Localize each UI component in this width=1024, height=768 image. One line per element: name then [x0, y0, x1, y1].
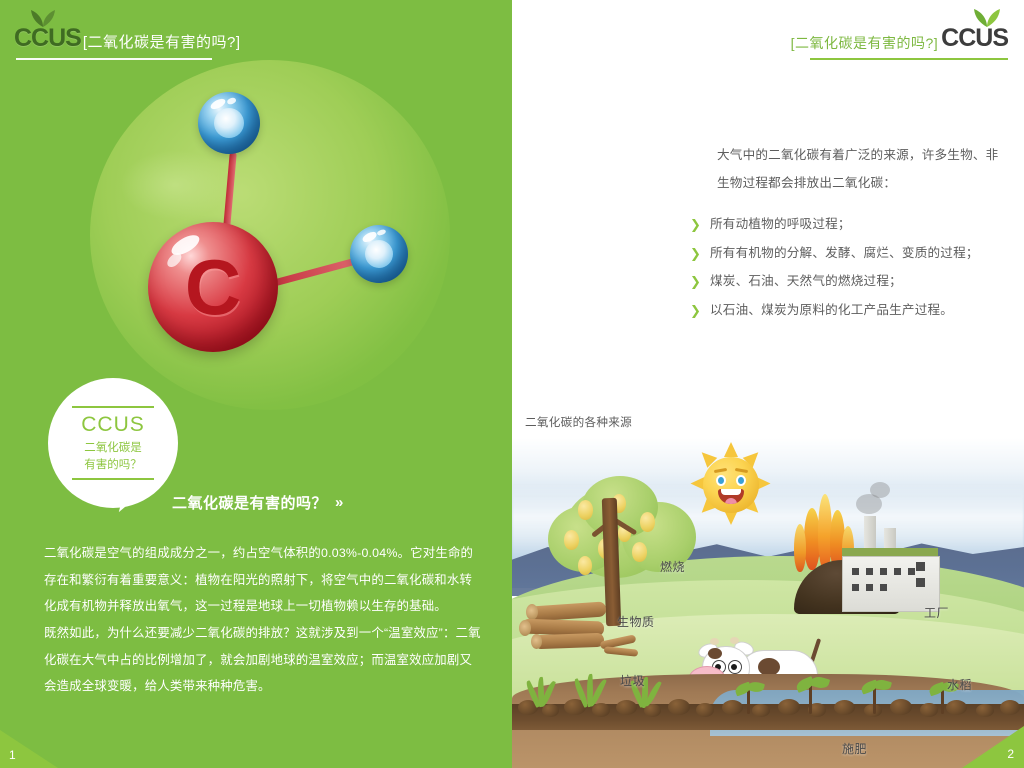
left-section-title-text: 二氧化碳是有害的吗？: [172, 492, 327, 513]
oxygen-right-inner-ring: [365, 240, 393, 268]
page-number-left: 1: [0, 730, 58, 768]
soil-lump: [668, 699, 690, 715]
sun-ray: [724, 442, 738, 457]
left-paragraph-1: 二氧化碳是空气的组成成分之一，约占空气体积的0.03%-0.04%。它对生命的存…: [44, 540, 484, 620]
factory-window: [916, 562, 925, 571]
soil-lump: [696, 703, 714, 717]
chevron-right-icon: ❯: [690, 216, 710, 234]
tree-fruit: [632, 542, 647, 562]
factory-window: [880, 568, 887, 575]
oxygen-right-highlight-2: [377, 229, 387, 237]
cow-pupil-right: [731, 664, 737, 670]
bubble-text: 二氧化碳是 有害的吗？: [84, 440, 142, 473]
list-item: ❯ 煤炭、石油、天然气的燃烧过程；: [690, 273, 1020, 291]
soil-lump: [976, 704, 994, 717]
leaf-sprout-icon: [971, 8, 1003, 27]
header-left: CCUS [二氧化碳是有害的吗?]: [14, 26, 241, 51]
soil-lump: [920, 703, 938, 717]
carbon-atom-label: C: [148, 222, 278, 352]
log-end: [519, 620, 531, 636]
log-end: [531, 634, 542, 649]
log-pile-item: [534, 633, 604, 649]
sun-face: [703, 457, 759, 513]
soil-lump: [592, 703, 610, 717]
bubble-rule-bottom: [72, 478, 154, 480]
list-item-label: 以石油、煤炭为原料的化工产品生产过程。: [710, 302, 953, 319]
ccus-logo-left-text: CCUS: [14, 24, 81, 52]
sun-pupil-left: [718, 477, 724, 484]
tree-fruit: [578, 556, 592, 575]
tree-fruit: [578, 500, 593, 520]
log-end: [526, 604, 538, 620]
leaf-sprout-icon: [28, 9, 58, 27]
co2-molecule-illustration: C: [100, 80, 430, 400]
soil-lump: [752, 704, 770, 717]
tree-fruit: [564, 530, 579, 550]
label-rice: 水稻: [947, 676, 972, 693]
oxygen-top-highlight-2: [226, 96, 237, 104]
factory-window: [866, 584, 873, 591]
sun-mouth: [718, 489, 744, 504]
oxygen-atom-top: [198, 92, 260, 154]
smoke-puff: [870, 482, 890, 498]
factory-window: [916, 578, 925, 587]
page-number-right-text: 2: [1007, 747, 1014, 761]
oxygen-atom-right: [350, 225, 408, 283]
sun-icon: [694, 448, 768, 522]
carbon-sources-illustration: 燃烧 生物质 垃圾 工厂 水稻 施肥: [512, 438, 1024, 768]
sun-brow-right: [735, 468, 748, 473]
factory-window: [880, 584, 887, 591]
bubble-text-line1: 二氧化碳是: [84, 440, 142, 457]
label-factory: 工厂: [924, 604, 949, 621]
ccus-logo-right-text: CCUS: [941, 24, 1008, 52]
carbon-atom: C: [148, 222, 278, 352]
cow-horn-left: [710, 638, 719, 645]
flame: [794, 524, 806, 572]
rice-stem: [809, 684, 812, 714]
factory-window: [852, 568, 859, 575]
page-number-right-shape: [962, 726, 1024, 768]
soil-lump: [542, 704, 559, 717]
soil-lump: [778, 699, 800, 715]
page-number-left-text: 1: [9, 748, 16, 762]
sun-brow-left: [714, 468, 727, 473]
left-section-title: 二氧化碳是有害的吗？ »: [172, 492, 340, 513]
oxygen-top-inner-ring: [214, 108, 244, 138]
label-biomass: 生物质: [617, 613, 655, 630]
soil-lump: [890, 699, 912, 715]
illustration-caption: 二氧化碳的各种来源: [525, 414, 632, 430]
tree-fruit: [640, 512, 655, 532]
factory-window: [866, 568, 873, 575]
factory-window: [908, 568, 915, 575]
bubble-rule-top: [72, 406, 154, 408]
right-intro-text: 大气中的二氧化碳有着广泛的来源，许多生物、非生物过程都会排放出二氧化碳：: [717, 142, 1007, 197]
chevron-right-icon: ❯: [690, 302, 710, 320]
list-item-label: 所有有机物的分解、发酵、腐烂、变质的过程；: [710, 245, 979, 262]
brochure-spread: CCUS [二氧化碳是有害的吗?] C: [0, 0, 1024, 768]
header-right-title: [二氧化碳是有害的吗?]: [791, 36, 939, 51]
chevron-right-icon: ❯: [690, 245, 710, 263]
left-body-text: 二氧化碳是空气的组成成分之一，约占空气体积的0.03%-0.04%。它对生命的存…: [44, 540, 484, 700]
factory-window: [894, 568, 901, 575]
bubble-logo: CCUS: [81, 413, 145, 437]
ccus-logo-right: CCUS: [941, 26, 1008, 51]
soil-lump: [834, 700, 855, 715]
list-item: ❯ 以石油、煤炭为原料的化工产品生产过程。: [690, 302, 1020, 320]
cow-spot-head: [708, 648, 722, 659]
header-right-underline: [810, 58, 1008, 60]
label-burning: 燃烧: [660, 558, 685, 575]
sun-pupil-right: [738, 477, 744, 484]
soil-lump: [722, 700, 743, 715]
list-item-label: 煤炭、石油、天然气的燃烧过程；: [710, 273, 902, 290]
soil-lump: [946, 700, 967, 715]
soil-lump: [1000, 700, 1020, 715]
emission-sources-list: ❯ 所有动植物的呼吸过程； ❯ 所有有机物的分解、发酵、腐烂、变质的过程； ❯ …: [690, 216, 1020, 330]
header-left-underline: [16, 58, 212, 60]
sun-tongue: [725, 498, 737, 504]
list-item-label: 所有动植物的呼吸过程；: [710, 216, 851, 233]
factory-window: [852, 584, 859, 591]
soil-lump: [616, 700, 637, 715]
left-paragraph-2: 既然如此，为什么还要减少二氧化碳的排放？这就涉及到一个“温室效应”：二氧化碳在大…: [44, 620, 484, 700]
page-number-right: 2: [962, 726, 1024, 768]
ccus-logo-left: CCUS: [14, 26, 81, 51]
label-fertilizing: 施肥: [842, 740, 867, 757]
cow-horn-right: [730, 637, 739, 644]
chevron-right-icon: ❯: [690, 273, 710, 291]
header-left-title: [二氧化碳是有害的吗?]: [83, 35, 241, 52]
speech-bubble: CCUS 二氧化碳是 有害的吗？: [48, 378, 178, 508]
list-item: ❯ 所有有机物的分解、发酵、腐烂、变质的过程；: [690, 245, 1020, 263]
bubble-text-line2: 有害的吗？: [84, 457, 142, 474]
sun-teeth: [721, 489, 741, 495]
header-right: [二氧化碳是有害的吗?] CCUS: [791, 26, 1008, 51]
double-chevron-icon: »: [335, 494, 340, 511]
list-item: ❯ 所有动植物的呼吸过程；: [690, 216, 1020, 234]
label-garbage: 垃圾: [620, 672, 645, 689]
left-page: CCUS [二氧化碳是有害的吗?] C: [0, 0, 512, 768]
right-page: [二氧化碳是有害的吗?] CCUS 大气中的二氧化碳有着广泛的来源，许多生物、非…: [512, 0, 1024, 768]
